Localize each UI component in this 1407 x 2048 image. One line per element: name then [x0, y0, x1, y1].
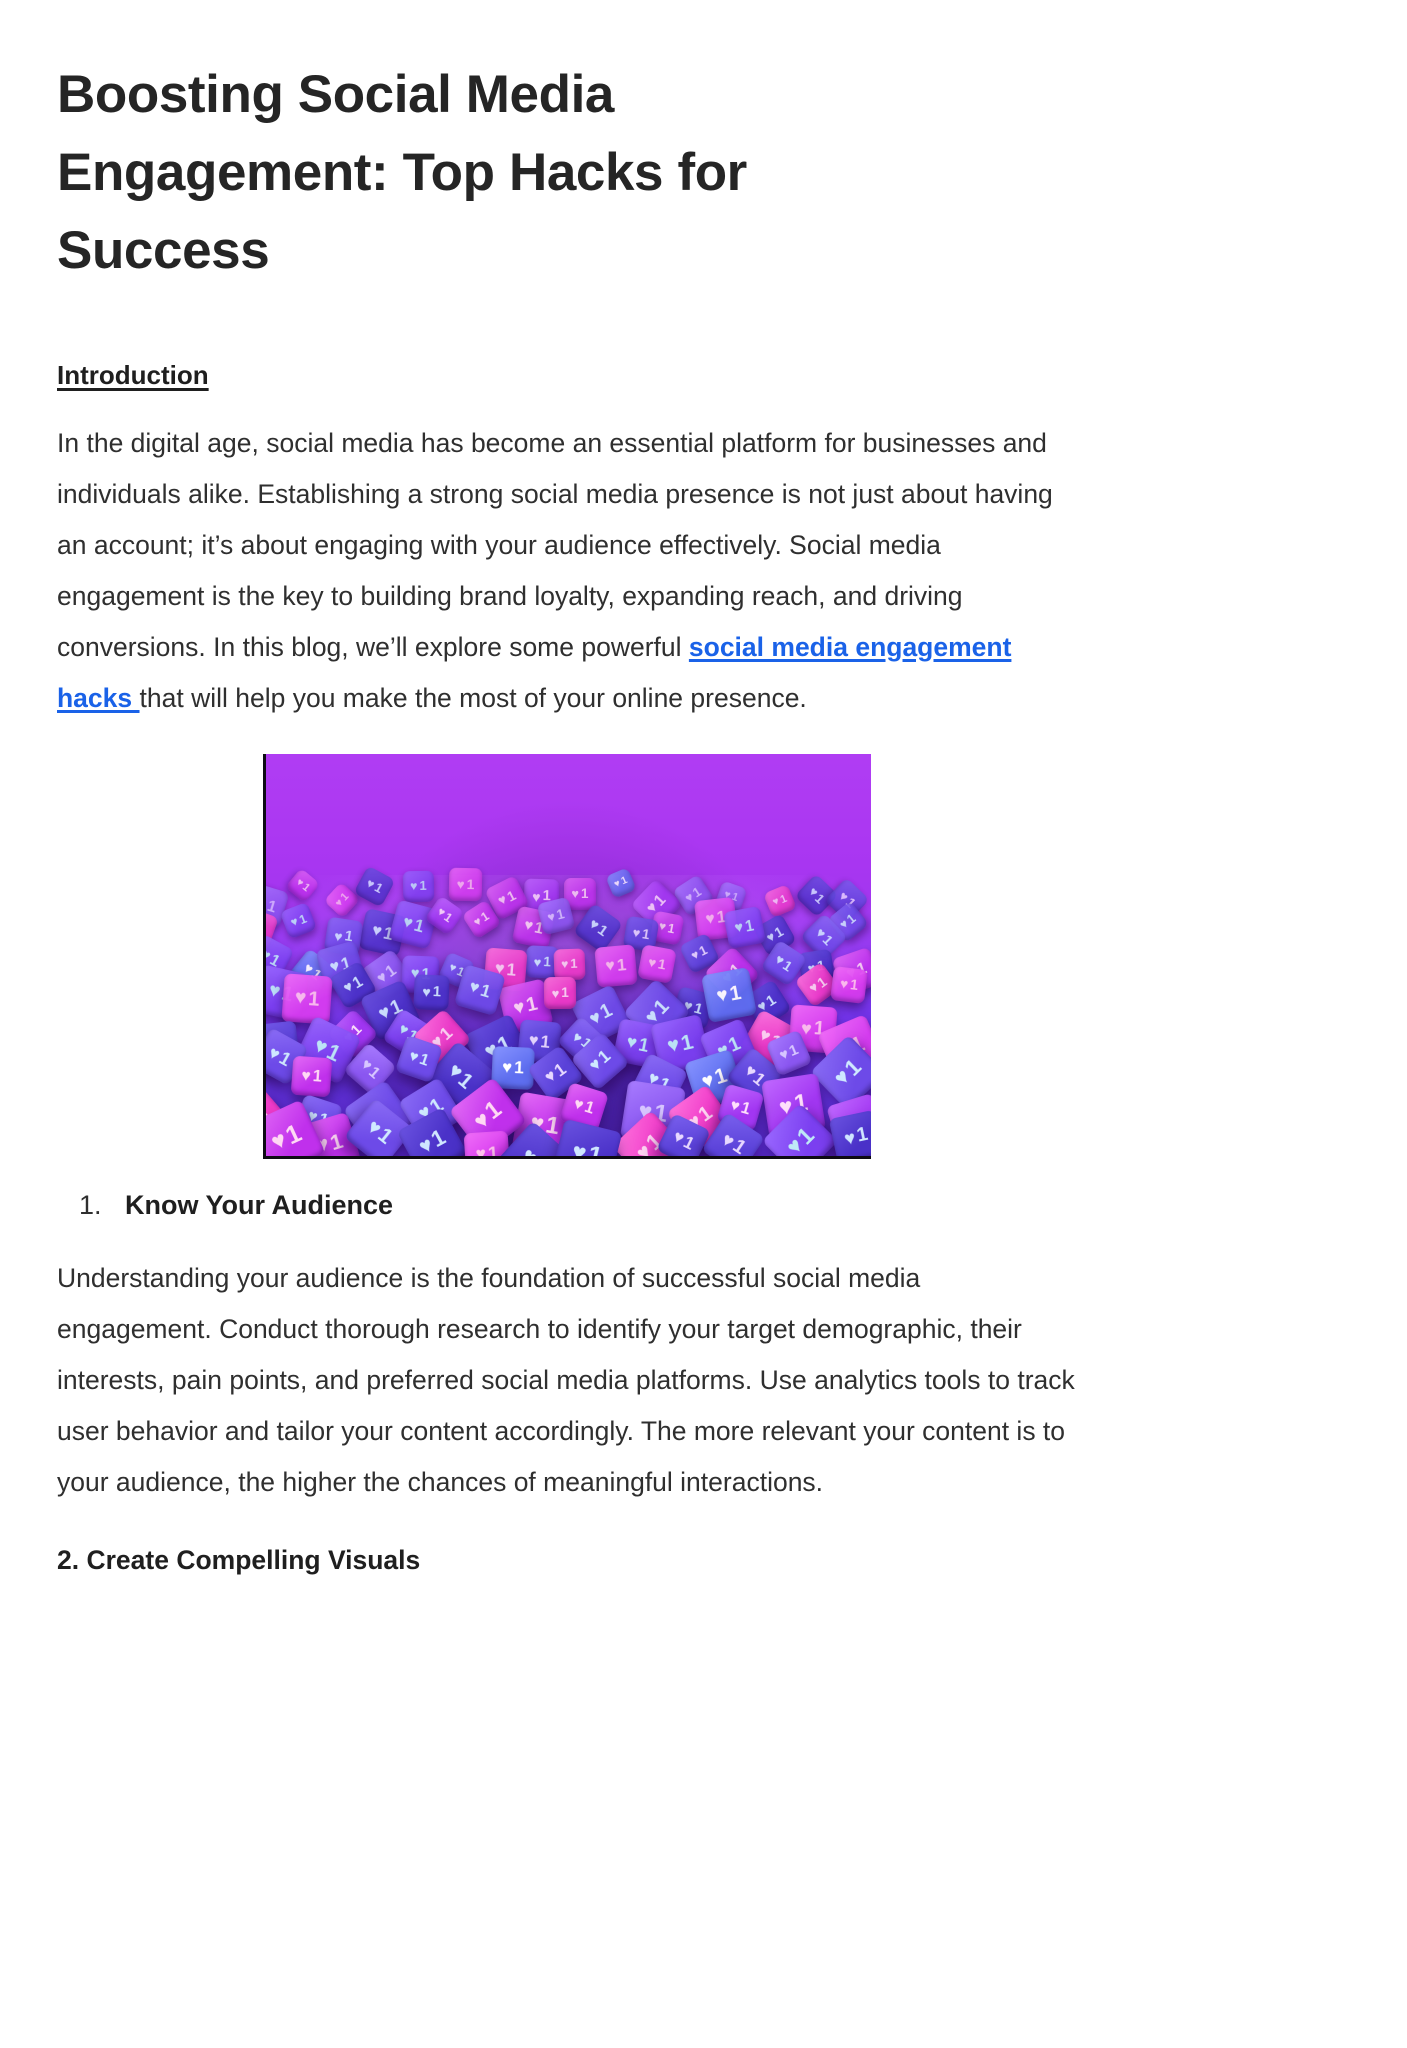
heart-icon: ♥: [456, 878, 464, 891]
page-title: Boosting Social Media Engagement: Top Ha…: [57, 0, 847, 290]
like-badge: ♥1: [763, 884, 797, 918]
like-count-label: 1: [543, 955, 551, 969]
like-count-label: 1: [666, 922, 675, 936]
heart-icon: ♥: [522, 918, 534, 934]
heart-icon: ♥: [422, 985, 431, 1000]
like-badge: ♥1: [828, 1110, 871, 1159]
heart-icon: ♥: [532, 889, 541, 903]
like-badge: ♥1: [285, 868, 321, 904]
like-count-label: 1: [418, 1051, 432, 1069]
list-item-know-your-audience: 1.Know Your Audience: [125, 1183, 1077, 1227]
section-heading-introduction: Introduction: [57, 290, 1077, 392]
like-badges-image: ♥1♥1♥1♥1♥1♥1♥1♥1♥1♥1♥1♥1♥1♥1♥1♥1♥1♥1♥1♥1…: [263, 754, 871, 1159]
heart-icon: ♥: [705, 911, 716, 928]
like-count-label: 1: [308, 989, 321, 1010]
intro-paragraph: In the digital age, social media has bec…: [57, 392, 1077, 724]
like-badge-pile: ♥1♥1♥1♥1♥1♥1♥1♥1♥1♥1♥1♥1♥1♥1♥1♥1♥1♥1♥1♥1…: [266, 867, 871, 1156]
like-count-label: 1: [413, 916, 427, 935]
heart-icon: ♥: [715, 986, 730, 1007]
like-count-label: 1: [855, 1125, 870, 1146]
like-badge: ♥1: [402, 870, 433, 901]
like-count-label: 1: [487, 1144, 498, 1159]
heart-icon: ♥: [839, 977, 849, 991]
heart-icon: ♥: [551, 986, 559, 999]
heart-icon: ♥: [631, 927, 641, 941]
heart-icon: ♥: [647, 955, 657, 970]
heart-icon: ♥: [333, 928, 343, 943]
heart-icon: ♥: [410, 880, 418, 892]
like-count-label: 1: [556, 907, 566, 922]
like-badge: ♥1: [282, 973, 334, 1025]
like-badge: ♥1: [290, 1056, 332, 1098]
like-count-label: 1: [641, 928, 651, 943]
like-badge: ♥1: [605, 867, 637, 899]
like-badge: ♥1: [701, 967, 757, 1023]
heart-icon: ♥: [625, 1033, 639, 1052]
like-count-label: 1: [849, 978, 859, 993]
like-count-label: 1: [419, 879, 426, 892]
document-page: Boosting Social Media Engagement: Top Ha…: [0, 0, 1407, 2048]
like-badge: ♥1: [637, 944, 676, 983]
like-count-label: 1: [570, 958, 578, 971]
heart-icon: ♥: [534, 955, 542, 968]
like-count-label: 1: [539, 1033, 550, 1051]
heart-icon: ♥: [561, 958, 569, 970]
intro-text-after-link: that will help you make the most of your…: [140, 683, 807, 713]
like-count-label: 1: [466, 878, 474, 892]
figure-like-badges: ♥1♥1♥1♥1♥1♥1♥1♥1♥1♥1♥1♥1♥1♥1♥1♥1♥1♥1♥1♥1…: [57, 724, 1077, 1159]
document-content: Boosting Social Media Engagement: Top Ha…: [57, 0, 1077, 1580]
heart-icon: ♥: [657, 921, 666, 934]
sub-heading-create-compelling-visuals: 2. Create Compelling Visuals: [57, 1508, 1077, 1580]
like-count-label: 1: [739, 1100, 752, 1118]
heart-icon: ♥: [734, 920, 745, 936]
heart-icon: ♥: [370, 923, 383, 941]
like-count-label: 1: [728, 983, 743, 1005]
heart-icon: ♥: [301, 1068, 311, 1084]
intro-text-before-link: In the digital age, social media has bec…: [57, 428, 1053, 662]
like-badge: ♥1: [553, 949, 585, 981]
heart-icon: ♥: [515, 1144, 541, 1159]
like-count-label: 1: [657, 957, 667, 972]
like-count-label: 1: [312, 1069, 322, 1086]
like-count-label: 1: [514, 1059, 525, 1077]
like-badge: ♥1: [414, 974, 451, 1011]
heart-icon: ♥: [800, 1019, 812, 1038]
like-badge: ♥1: [544, 976, 577, 1009]
like-count-label: 1: [524, 994, 539, 1016]
like-badge: ♥1: [830, 966, 868, 1004]
like-badge: ♥1: [723, 906, 766, 949]
like-count-label: 1: [266, 898, 279, 915]
like-badge: ♥1: [354, 866, 396, 908]
heart-icon: ♥: [570, 1139, 589, 1159]
heart-icon: ♥: [475, 1145, 487, 1159]
heart-icon: ♥: [605, 958, 616, 975]
heart-icon: ♥: [571, 888, 579, 901]
heart-icon: ♥: [502, 1059, 513, 1076]
like-count-label: 1: [744, 918, 755, 935]
like-count-label: 1: [561, 986, 569, 1000]
heart-icon: ♥: [511, 998, 526, 1019]
like-count-label: 1: [637, 1035, 650, 1055]
like-count-label: 1: [506, 961, 517, 979]
like-count-label: 1: [479, 982, 493, 1001]
hacks-list: 1.Know Your Audience: [57, 1159, 1077, 1227]
like-badge: ♥1: [448, 868, 482, 902]
heart-icon: ♥: [842, 1128, 857, 1148]
heart-icon: ♥: [294, 989, 307, 1009]
list-item-label: Know Your Audience: [125, 1190, 393, 1220]
list-item-marker: 1.: [79, 1183, 102, 1227]
like-badge: ♥1: [594, 944, 637, 987]
like-count-label: 1: [581, 887, 588, 900]
audience-paragraph: Understanding your audience is the found…: [57, 1227, 1077, 1508]
heart-icon: ♥: [665, 1035, 681, 1057]
like-count-label: 1: [616, 957, 627, 974]
like-count-label: 1: [433, 985, 442, 1000]
heart-icon: ♥: [528, 1032, 539, 1049]
section-heading-label: Introduction: [57, 360, 209, 390]
